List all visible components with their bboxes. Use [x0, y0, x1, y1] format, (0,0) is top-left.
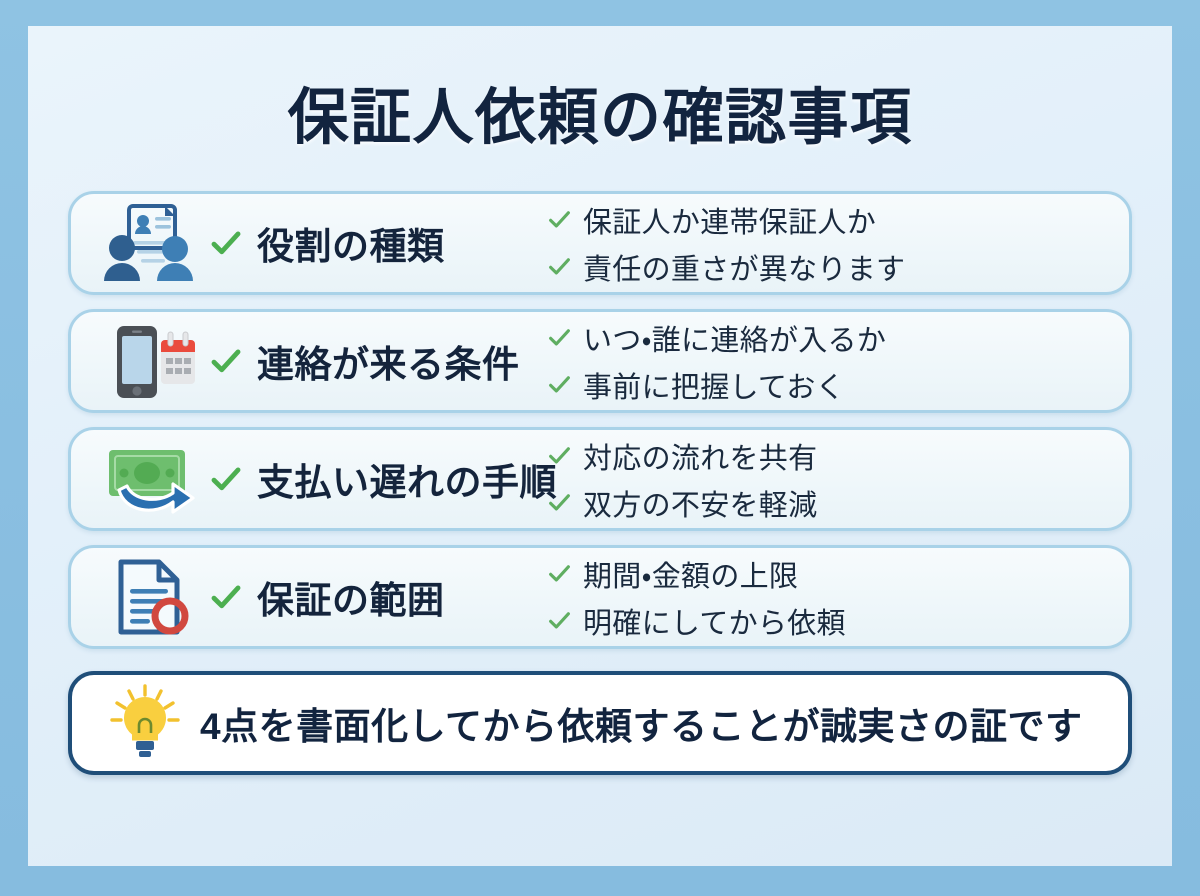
- row-label-group-2: 連絡が来る条件: [209, 334, 539, 388]
- check-icon: [547, 254, 572, 279]
- checklist-row-1: 役割の種類 保証人か連帯保証人か 責任の重さが異なります: [68, 191, 1132, 295]
- row-label-group-4: 保証の範囲: [209, 570, 539, 624]
- check-icon: [209, 226, 243, 260]
- row-label-group-1: 役割の種類: [209, 216, 539, 270]
- check-icon: [209, 580, 243, 614]
- check-icon: [547, 608, 572, 633]
- page-title: 保証人依頼の確認事項: [68, 84, 1132, 151]
- row-label-4: 保証の範囲: [257, 570, 445, 624]
- summary-text: 4点を書面化してから依頼することが誠実さの証です: [200, 696, 1082, 750]
- smartphone-calendar-icon: [97, 318, 201, 404]
- detail-text: 保証人か連帯保証人か: [583, 199, 876, 241]
- row-details-2: いつ・誰に連絡が入るか 事前に把握しておく: [539, 317, 1107, 406]
- detail-text: 双方の不安を軽減: [583, 482, 817, 524]
- detail-line: 保証人か連帯保証人か: [547, 199, 1107, 241]
- row-label-2: 連絡が来る条件: [257, 334, 520, 388]
- row-details-1: 保証人か連帯保証人か 責任の重さが異なります: [539, 199, 1107, 288]
- row-label-3: 支払い遅れの手順: [257, 452, 557, 506]
- checklist-row-2: 連絡が来る条件 いつ・誰に連絡が入るか 事前に把握しておく: [68, 309, 1132, 413]
- row-label-group-3: 支払い遅れの手順: [209, 452, 539, 506]
- document-stamp-icon: [97, 554, 201, 640]
- check-icon: [547, 325, 572, 350]
- check-icon: [547, 490, 572, 515]
- poster-canvas: 保証人依頼の確認事項: [28, 26, 1172, 866]
- summary-banner: 4点を書面化してから依頼することが誠実さの証です: [68, 671, 1132, 775]
- checklist-row-3: 支払い遅れの手順 対応の流れを共有 双方の不安を軽減: [68, 427, 1132, 531]
- check-icon: [547, 372, 572, 397]
- detail-text: 対応の流れを共有: [583, 435, 817, 477]
- detail-line: 双方の不安を軽減: [547, 482, 1107, 524]
- detail-line: 責任の重さが異なります: [547, 246, 1107, 288]
- detail-line: 対応の流れを共有: [547, 435, 1107, 477]
- detail-line: 期間・金額の上限: [547, 553, 1107, 595]
- detail-line: 事前に把握しておく: [547, 364, 1107, 406]
- check-icon: [209, 344, 243, 378]
- row-label-1: 役割の種類: [257, 216, 445, 270]
- banknote-arrow-icon: [97, 436, 201, 522]
- checklist-rows: 役割の種類 保証人か連帯保証人か 責任の重さが異なります: [68, 191, 1132, 649]
- detail-line: いつ・誰に連絡が入るか: [547, 317, 1107, 359]
- detail-text: 期間・金額の上限: [583, 553, 798, 595]
- detail-text: 明確にしてから依頼: [583, 600, 846, 642]
- row-details-4: 期間・金額の上限 明確にしてから依頼: [539, 553, 1107, 642]
- check-icon: [547, 561, 572, 586]
- lightbulb-icon: [106, 682, 184, 764]
- check-icon: [209, 462, 243, 496]
- detail-text: いつ・誰に連絡が入るか: [583, 317, 886, 359]
- detail-text: 事前に把握しておく: [583, 364, 845, 406]
- check-icon: [547, 443, 572, 468]
- detail-line: 明確にしてから依頼: [547, 600, 1107, 642]
- detail-text: 責任の重さが異なります: [583, 246, 905, 288]
- infographic-poster: 保証人依頼の確認事項: [0, 0, 1200, 896]
- row-details-3: 対応の流れを共有 双方の不安を軽減: [539, 435, 1107, 524]
- checklist-row-4: 保証の範囲 期間・金額の上限 明確にしてから依頼: [68, 545, 1132, 649]
- id-document-people-icon: [97, 200, 201, 286]
- check-icon: [547, 207, 572, 232]
